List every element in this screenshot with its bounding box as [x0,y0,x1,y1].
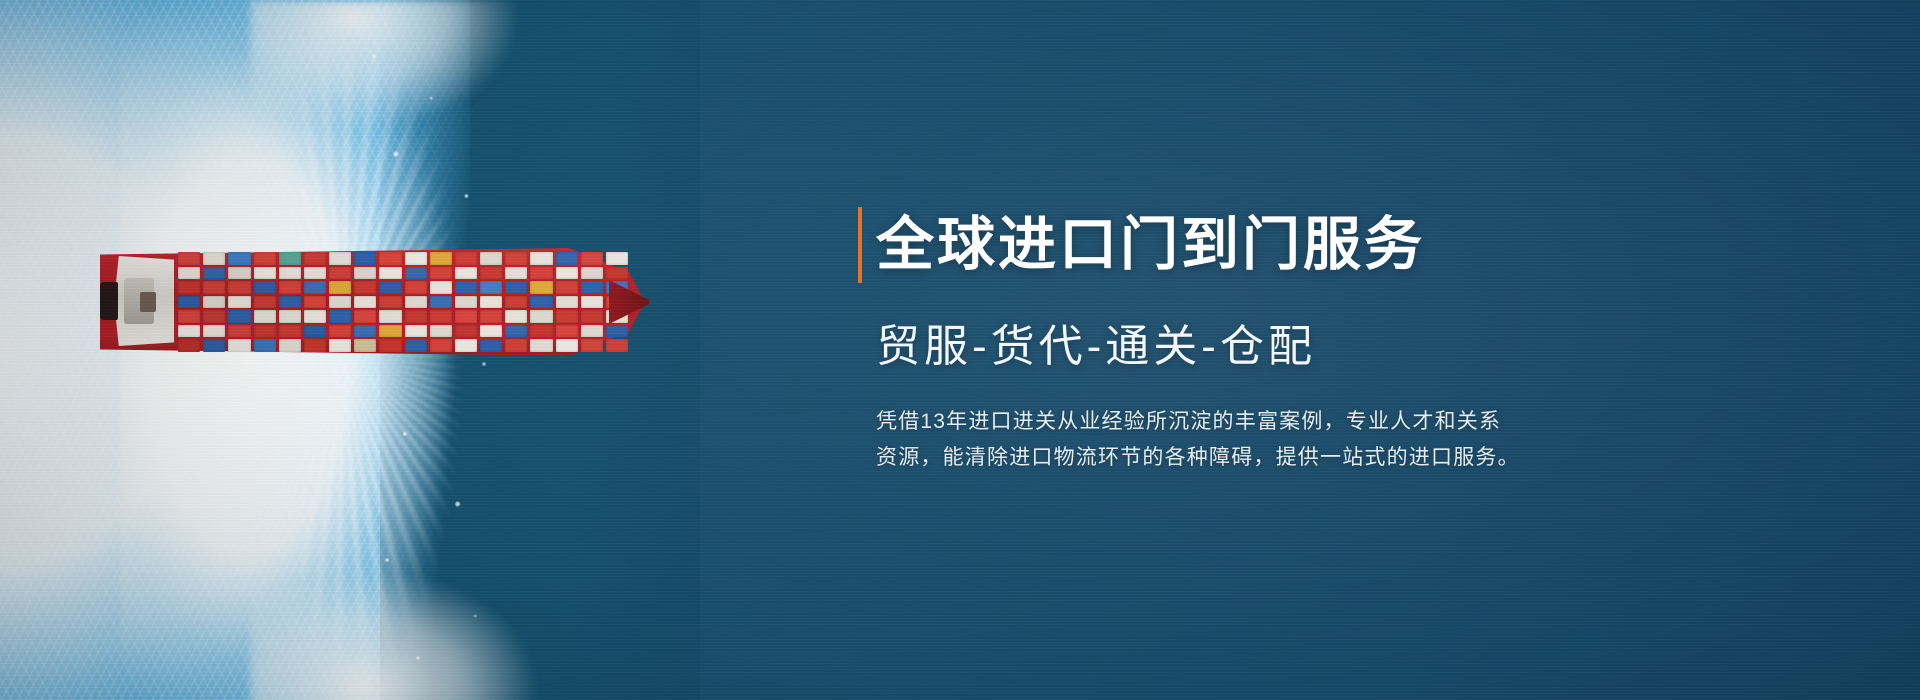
shipping-container [178,252,200,265]
shipping-container [304,310,326,323]
shipping-container [405,267,427,280]
shipping-container [581,325,603,338]
shipping-container [379,310,401,323]
shipping-container [430,267,452,280]
container-bay [203,252,225,352]
shipping-container [430,325,452,338]
shipping-container [405,281,427,294]
shipping-container [581,339,603,352]
shipping-container [304,325,326,338]
shipping-container [279,252,301,265]
shipping-container [480,310,502,323]
shipping-container [279,339,301,352]
shipping-container [279,310,301,323]
shipping-container [178,339,200,352]
container-bay [304,252,326,352]
shipping-container [530,267,552,280]
shipping-container [329,296,351,309]
shipping-container [455,310,477,323]
shipping-container [405,339,427,352]
shipping-container [581,252,603,265]
shipping-container [405,252,427,265]
shipping-container [203,281,225,294]
container-bay [228,252,250,352]
shipping-container [379,281,401,294]
shipping-container [480,296,502,309]
shipping-container [279,325,301,338]
shipping-container [203,310,225,323]
description-line-1: 凭借13年进口进关从业经验所沉淀的丰富案例，专业人才和关系 [876,404,1616,440]
shipping-container [203,339,225,352]
shipping-container [530,281,552,294]
shipping-container [379,339,401,352]
shipping-container [556,281,578,294]
shipping-container [455,267,477,280]
shipping-container [254,267,276,280]
shipping-container [455,325,477,338]
shipping-container [178,281,200,294]
shipping-container [279,296,301,309]
shipping-container [354,339,376,352]
shipping-container [329,310,351,323]
shipping-container [304,267,326,280]
shipping-container [581,267,603,280]
banner-heading: 全球进口门到门服务 [876,207,1425,283]
shipping-container [228,281,250,294]
shipping-container [203,296,225,309]
banner-description: 凭借13年进口进关从业经验所沉淀的丰富案例，专业人才和关系 资源，能清除进口物流… [876,404,1616,476]
shipping-container [430,310,452,323]
shipping-container [505,281,527,294]
container-bays [178,252,628,352]
container-bay [505,252,527,352]
shipping-container [530,310,552,323]
shipping-container [203,267,225,280]
shipping-container [405,325,427,338]
shipping-container [178,310,200,323]
shipping-container [178,325,200,338]
container-bay [178,252,200,352]
shipping-container [254,339,276,352]
shipping-container [228,296,250,309]
shipping-container [455,339,477,352]
shipping-container [379,267,401,280]
container-bay [254,252,276,352]
shipping-container [606,339,628,352]
shipping-container [505,267,527,280]
shipping-container [505,339,527,352]
shipping-container [354,267,376,280]
shipping-container [304,252,326,265]
shipping-container [480,325,502,338]
shipping-container [480,281,502,294]
container-bay [405,252,427,352]
shipping-container [228,310,250,323]
accent-bar [858,207,862,283]
shipping-container [430,281,452,294]
shipping-container [354,325,376,338]
shipping-container [455,281,477,294]
shipping-container [304,296,326,309]
shipping-container [203,325,225,338]
shipping-container [379,252,401,265]
shipping-container [254,281,276,294]
shipping-container [354,296,376,309]
container-bay [455,252,477,352]
shipping-container [530,339,552,352]
hero-banner: 全球进口门到门服务 贸服-货代-通关-仓配 凭借13年进口进关从业经验所沉淀的丰… [0,0,1920,700]
container-ship [100,248,645,356]
shipping-container [228,325,250,338]
banner-content: 全球进口门到门服务 贸服-货代-通关-仓配 凭借13年进口进关从业经验所沉淀的丰… [858,0,1858,700]
container-bay [556,252,578,352]
shipping-container [556,310,578,323]
container-bay [530,252,552,352]
bow-spray-bottom [250,520,570,700]
shipping-container [379,296,401,309]
shipping-container [480,252,502,265]
shipping-container [455,296,477,309]
shipping-container [354,252,376,265]
shipping-container [228,339,250,352]
container-bay [430,252,452,352]
shipping-container [304,281,326,294]
shipping-container [228,252,250,265]
container-bay [354,252,376,352]
ship-stern [100,282,118,320]
shipping-container [329,281,351,294]
shipping-container [430,296,452,309]
shipping-container [405,296,427,309]
bow-spray-top [250,0,550,180]
shipping-container [556,296,578,309]
shipping-container [354,310,376,323]
shipping-container [581,296,603,309]
description-line-2: 资源，能清除进口物流环节的各种障碍，提供一站式的进口服务。 [876,440,1616,476]
shipping-container [556,339,578,352]
container-bay [329,252,351,352]
shipping-container [480,267,502,280]
shipping-container [254,325,276,338]
shipping-container [530,296,552,309]
shipping-container [329,339,351,352]
shipping-container [178,296,200,309]
shipping-container [178,267,200,280]
shipping-container [329,267,351,280]
shipping-container [354,281,376,294]
shipping-container [379,325,401,338]
container-bay [581,252,603,352]
shipping-container [581,281,603,294]
shipping-container [505,325,527,338]
shipping-container [405,310,427,323]
shipping-container [505,252,527,265]
heading-row: 全球进口门到门服务 [858,207,1425,283]
shipping-container [581,310,603,323]
shipping-container [556,267,578,280]
shipping-container [606,252,628,265]
shipping-container [556,325,578,338]
shipping-container [254,252,276,265]
shipping-container [254,310,276,323]
shipping-container [530,252,552,265]
shipping-container [530,325,552,338]
shipping-container [455,252,477,265]
shipping-container [430,339,452,352]
container-bay [480,252,502,352]
shipping-container [279,267,301,280]
shipping-container [606,267,628,280]
ship-funnel [140,292,156,312]
shipping-container [203,252,225,265]
shipping-container [505,296,527,309]
shipping-container [329,252,351,265]
shipping-container [556,252,578,265]
shipping-container [279,281,301,294]
shipping-container [329,325,351,338]
banner-subheading: 贸服-货代-通关-仓配 [876,316,1316,378]
shipping-container [480,339,502,352]
shipping-container [228,267,250,280]
shipping-container [505,310,527,323]
shipping-container [430,252,452,265]
shipping-container [304,339,326,352]
shipping-container [254,296,276,309]
container-bay [279,252,301,352]
container-bay [379,252,401,352]
shipping-container [606,325,628,338]
